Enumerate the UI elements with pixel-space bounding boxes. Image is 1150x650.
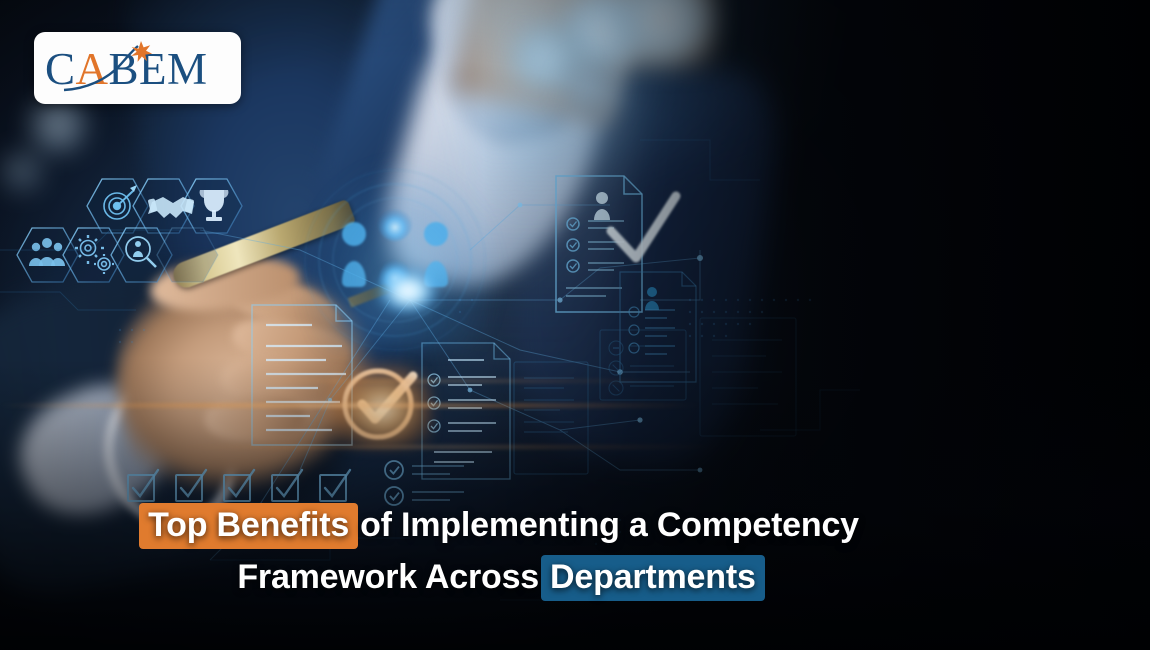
headline-line-2-rest: Framework Across xyxy=(235,558,541,596)
headline-highlight-blue: Departments xyxy=(541,555,765,601)
logo-swoosh xyxy=(64,46,138,90)
headline-highlight-orange: Top Benefits xyxy=(139,503,358,549)
page-title: Top Benefitsof Implementing a Competency… xyxy=(0,499,1000,603)
cabem-logo[interactable]: CABEM xyxy=(34,32,241,104)
logo-accent-svg xyxy=(45,40,230,96)
star-burst-icon xyxy=(131,41,152,62)
headline-line-1: Top Benefitsof Implementing a Competency xyxy=(0,499,1000,551)
headline-line-1-rest: of Implementing a Competency xyxy=(358,506,861,544)
banner-image: CABEM Top Benefitsof Implementing a Comp… xyxy=(0,0,1150,650)
logo-inner: CABEM xyxy=(45,40,230,96)
headline-line-2: Framework AcrossDepartments xyxy=(0,551,1000,603)
